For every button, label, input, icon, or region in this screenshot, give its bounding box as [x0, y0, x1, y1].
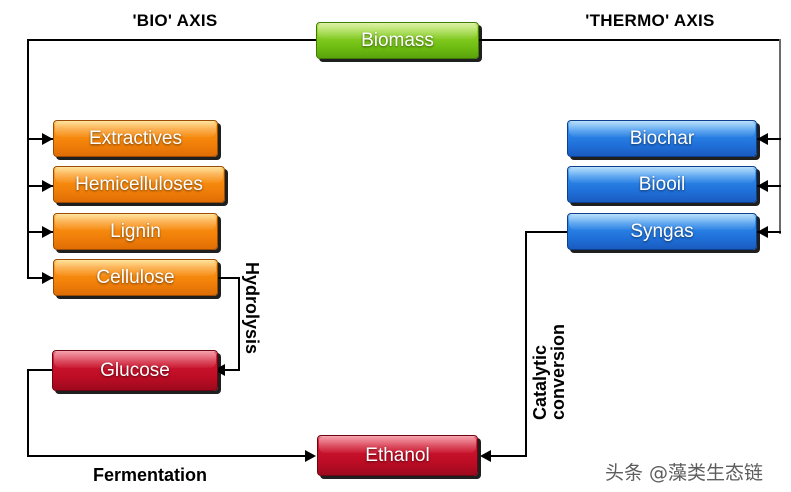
connector-right-trunk	[779, 39, 781, 234]
arrowhead-ethanol-left	[305, 450, 316, 462]
label-fermentation: Fermentation	[93, 465, 207, 486]
thermo-axis-title: 'THERMO' AXIS	[545, 11, 755, 31]
arrowhead-cellulose	[42, 272, 53, 284]
diagram-canvas: 'BIO' AXIS 'THERMO' AXIS Biomass Extract…	[0, 0, 791, 492]
node-biochar[interactable]: Biochar	[567, 120, 757, 157]
connector-left-trunk	[27, 39, 29, 279]
connector-fermentation-rail	[27, 455, 310, 457]
arrowhead-hemicelluloses	[42, 180, 53, 192]
node-glucose[interactable]: Glucose	[52, 350, 218, 391]
node-biomass[interactable]: Biomass	[316, 22, 479, 59]
arrowhead-biochar	[757, 133, 768, 145]
arrowhead-biooil	[757, 180, 768, 192]
node-biooil[interactable]: Biooil	[567, 166, 757, 203]
label-catalytic-conversion: Catalytic conversion	[531, 324, 568, 420]
connector-catalytic-bottom	[490, 455, 527, 457]
node-hemicelluloses[interactable]: Hemicelluloses	[53, 166, 225, 203]
connector-hydrolysis-vertical	[238, 277, 240, 371]
node-cellulose[interactable]: Cellulose	[53, 259, 218, 296]
connector-catalytic-top	[525, 231, 567, 233]
connector-fermentation-stub	[27, 369, 53, 371]
connector-fermentation-vertical	[27, 369, 29, 457]
connector-hydrolysis-top	[218, 277, 240, 279]
bio-axis-title: 'BIO' AXIS	[95, 11, 255, 31]
node-lignin[interactable]: Lignin	[53, 213, 218, 250]
label-hydrolysis: Hydrolysis	[241, 262, 262, 354]
connector-top-left-rail	[27, 39, 317, 41]
watermark-text: 头条 @藻类生态链	[605, 458, 763, 485]
connector-catalytic-vertical	[525, 231, 527, 457]
node-extractives[interactable]: Extractives	[53, 120, 218, 157]
node-syngas[interactable]: Syngas	[567, 213, 757, 250]
arrowhead-syngas	[757, 226, 768, 238]
node-ethanol[interactable]: Ethanol	[317, 435, 478, 476]
arrowhead-extractives	[42, 133, 53, 145]
arrowhead-ethanol-right	[480, 450, 491, 462]
connector-top-right-rail	[479, 39, 781, 41]
arrowhead-lignin	[42, 226, 53, 238]
